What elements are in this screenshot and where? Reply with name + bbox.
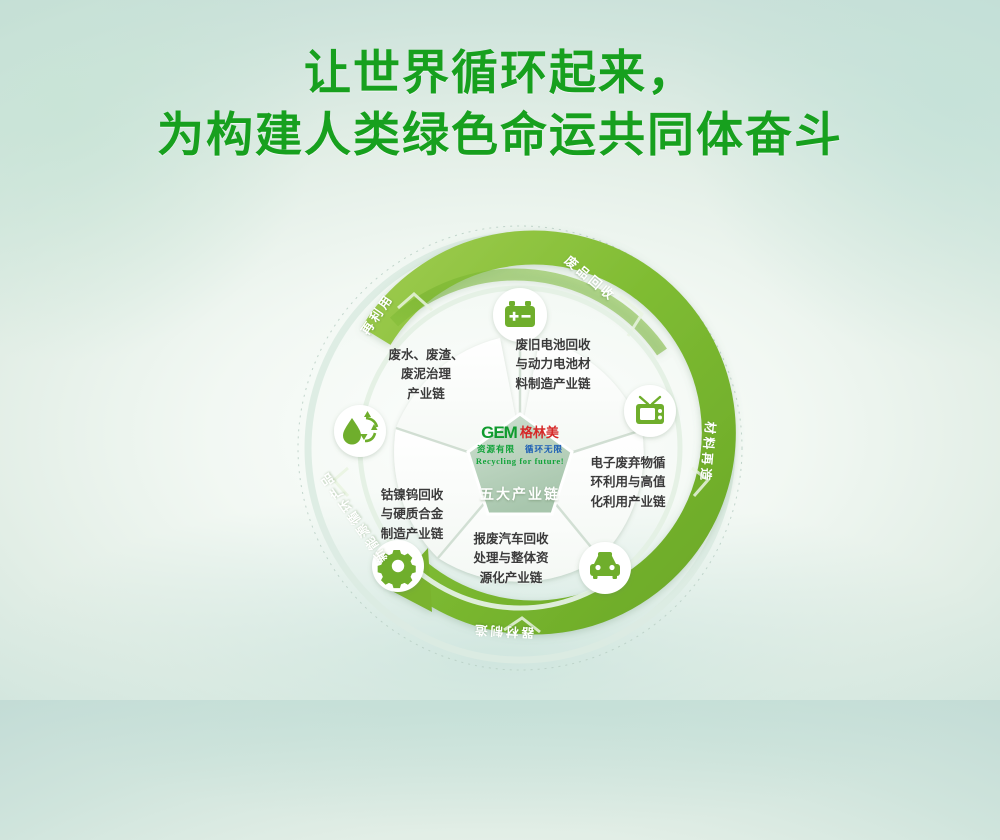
center-caption: 五大产业链	[457, 484, 583, 504]
title-line-2: 为构建人类绿色命运共同体奋斗	[0, 104, 1000, 166]
logo-gem-mark: GEM	[481, 424, 517, 441]
circular-industry-diagram: 废旧电池回收 与动力电池材 料制造产业链 废水、废渣、 废泥治理 产业链 电子废…	[290, 218, 750, 678]
center-logo-block: GEM 格林美 资源有限 循环无限 Recycling for future! …	[457, 424, 583, 504]
ring-label-equipment: 器材制造	[472, 621, 535, 643]
page-title: 让世界循环起来， 为构建人类绿色命运共同体奋斗	[0, 42, 1000, 166]
chain-label-water-waste: 废水、废渣、 废泥治理 产业链	[374, 346, 478, 404]
chain-label-battery: 废旧电池回收 与动力电池材 料制造产业链	[499, 336, 607, 394]
title-line-1: 让世界循环起来，	[0, 42, 1000, 104]
chain-label-scrap-auto: 报废汽车回收 处理与整体资 源化产业链	[458, 530, 564, 588]
logo-slogan-row: 资源有限 循环无限	[457, 443, 583, 455]
logo-wordmark-row: GEM 格林美	[457, 424, 583, 441]
logo-slogan-right: 循环无限	[525, 444, 563, 454]
logo-slogan-left: 资源有限	[477, 444, 515, 454]
logo-slogan-english: Recycling for future!	[457, 456, 583, 466]
chain-label-e-waste: 电子废弃物循 环利用与高值 化利用产业链	[578, 454, 678, 512]
logo-company-name: 格林美	[520, 426, 559, 439]
